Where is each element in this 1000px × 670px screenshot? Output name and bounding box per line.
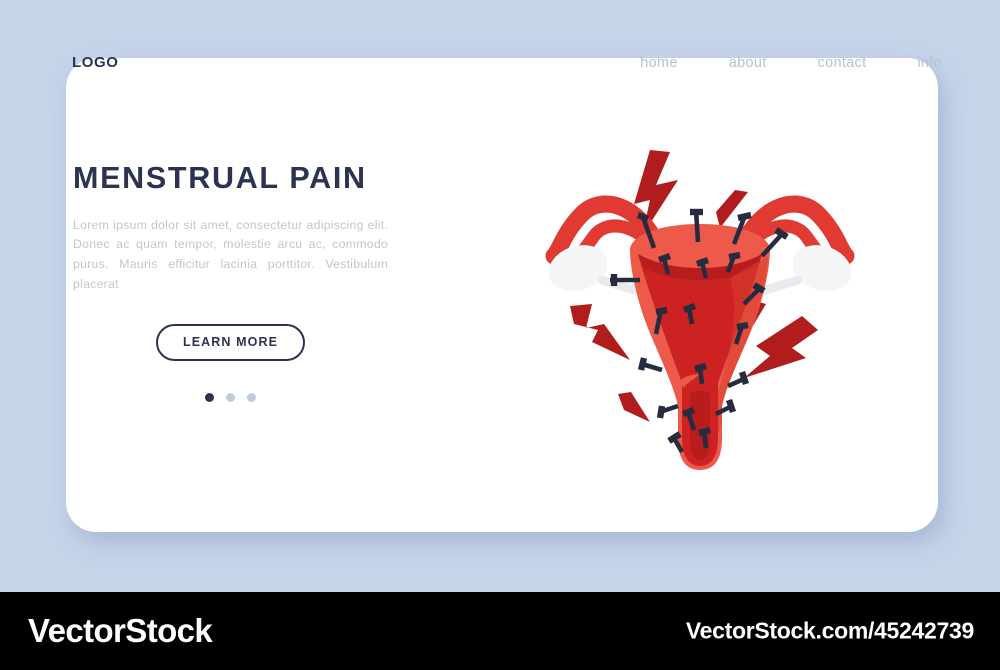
carousel-dot-2[interactable]: [226, 393, 235, 402]
page-title: MENSTRUAL PAIN: [73, 162, 388, 196]
hero-paragraph: Lorem ipsum dolor sit amet, consectetur …: [73, 216, 388, 296]
ovary-right-ligament: [766, 280, 798, 290]
watermark-brand: VectorStock: [28, 612, 212, 650]
nav-item-about[interactable]: about: [729, 55, 767, 71]
nail-left-4: [660, 406, 678, 418]
lightning-bolt-lower-left-icon: [618, 392, 650, 422]
hero-content: MENSTRUAL PAIN Lorem ipsum dolor sit ame…: [73, 162, 388, 402]
carousel-dot-3[interactable]: [247, 393, 256, 402]
lightning-bolt-right-icon: [744, 316, 818, 378]
nav-item-info[interactable]: info: [917, 55, 942, 71]
uterus-illustration: [530, 138, 870, 483]
lightning-bolt-left-icon: [570, 304, 630, 360]
learn-more-button[interactable]: LEARN MORE: [156, 324, 305, 361]
main-nav: home about contact info: [640, 55, 942, 71]
watermark-bar: VectorStock VectorStock.com/45242739: [0, 592, 1000, 670]
nail-left-3: [641, 358, 662, 370]
carousel-dots: [73, 393, 388, 402]
nav-item-home[interactable]: home: [640, 55, 677, 71]
page-root: LOGO home about contact info MENSTRUAL P…: [0, 0, 1000, 670]
logo[interactable]: LOGO: [72, 54, 119, 71]
nav-item-contact[interactable]: contact: [818, 55, 867, 71]
watermark-url: VectorStock.com/45242739: [686, 618, 974, 645]
carousel-dot-1[interactable]: [205, 393, 214, 402]
